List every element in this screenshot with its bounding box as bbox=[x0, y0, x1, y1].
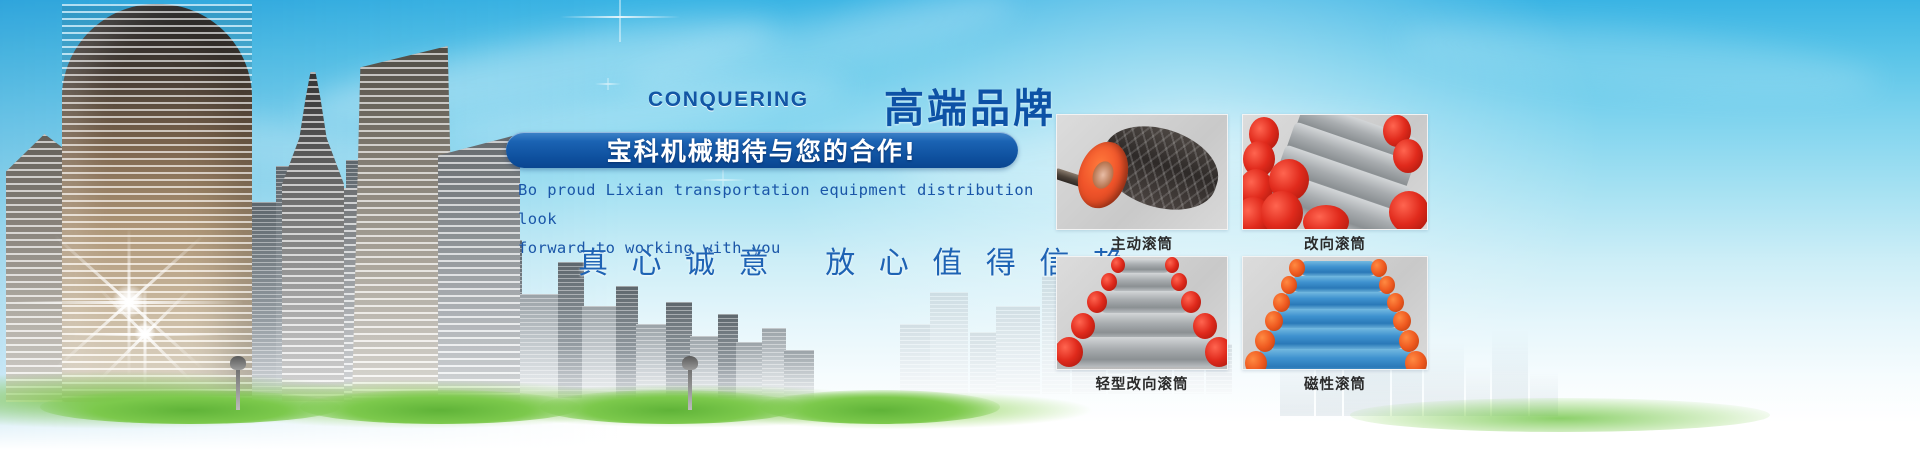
hero-tower-building bbox=[62, 4, 252, 402]
product-image-drive-pulley[interactable] bbox=[1056, 114, 1228, 230]
product-caption-4: 磁性滚筒 bbox=[1242, 370, 1428, 396]
slogan-text: 真 心 诚 意 放 心 值 得 信 赖 bbox=[578, 238, 1130, 282]
product-caption-3: 轻型改向滚筒 bbox=[1056, 370, 1228, 396]
subtitle-line-1: Bo proud Lixian transportation equipment… bbox=[518, 176, 1078, 234]
product-thumbnail-grid: 主动滚筒 改向滚筒 bbox=[1056, 114, 1428, 396]
product-image-magnetic-pulley[interactable] bbox=[1242, 256, 1428, 370]
product-caption-1: 主动滚筒 bbox=[1056, 230, 1228, 256]
eyebrow-text: CONQUERING bbox=[648, 88, 809, 112]
headline-text: 宝科机械期待与您的合作! bbox=[506, 131, 1018, 169]
tower-building bbox=[438, 134, 520, 402]
product-image-bend-pulley[interactable] bbox=[1242, 114, 1428, 230]
product-image-light-bend-pulley[interactable] bbox=[1056, 256, 1228, 370]
product-caption-2: 改向滚筒 bbox=[1242, 230, 1428, 256]
grass-strip-right bbox=[1350, 398, 1770, 432]
brand-tagline: 高端品牌 bbox=[884, 76, 1056, 134]
promo-banner: CONQUERING 高端品牌 宝科机械期待与您的合作! Bo proud Li… bbox=[0, 0, 1920, 450]
